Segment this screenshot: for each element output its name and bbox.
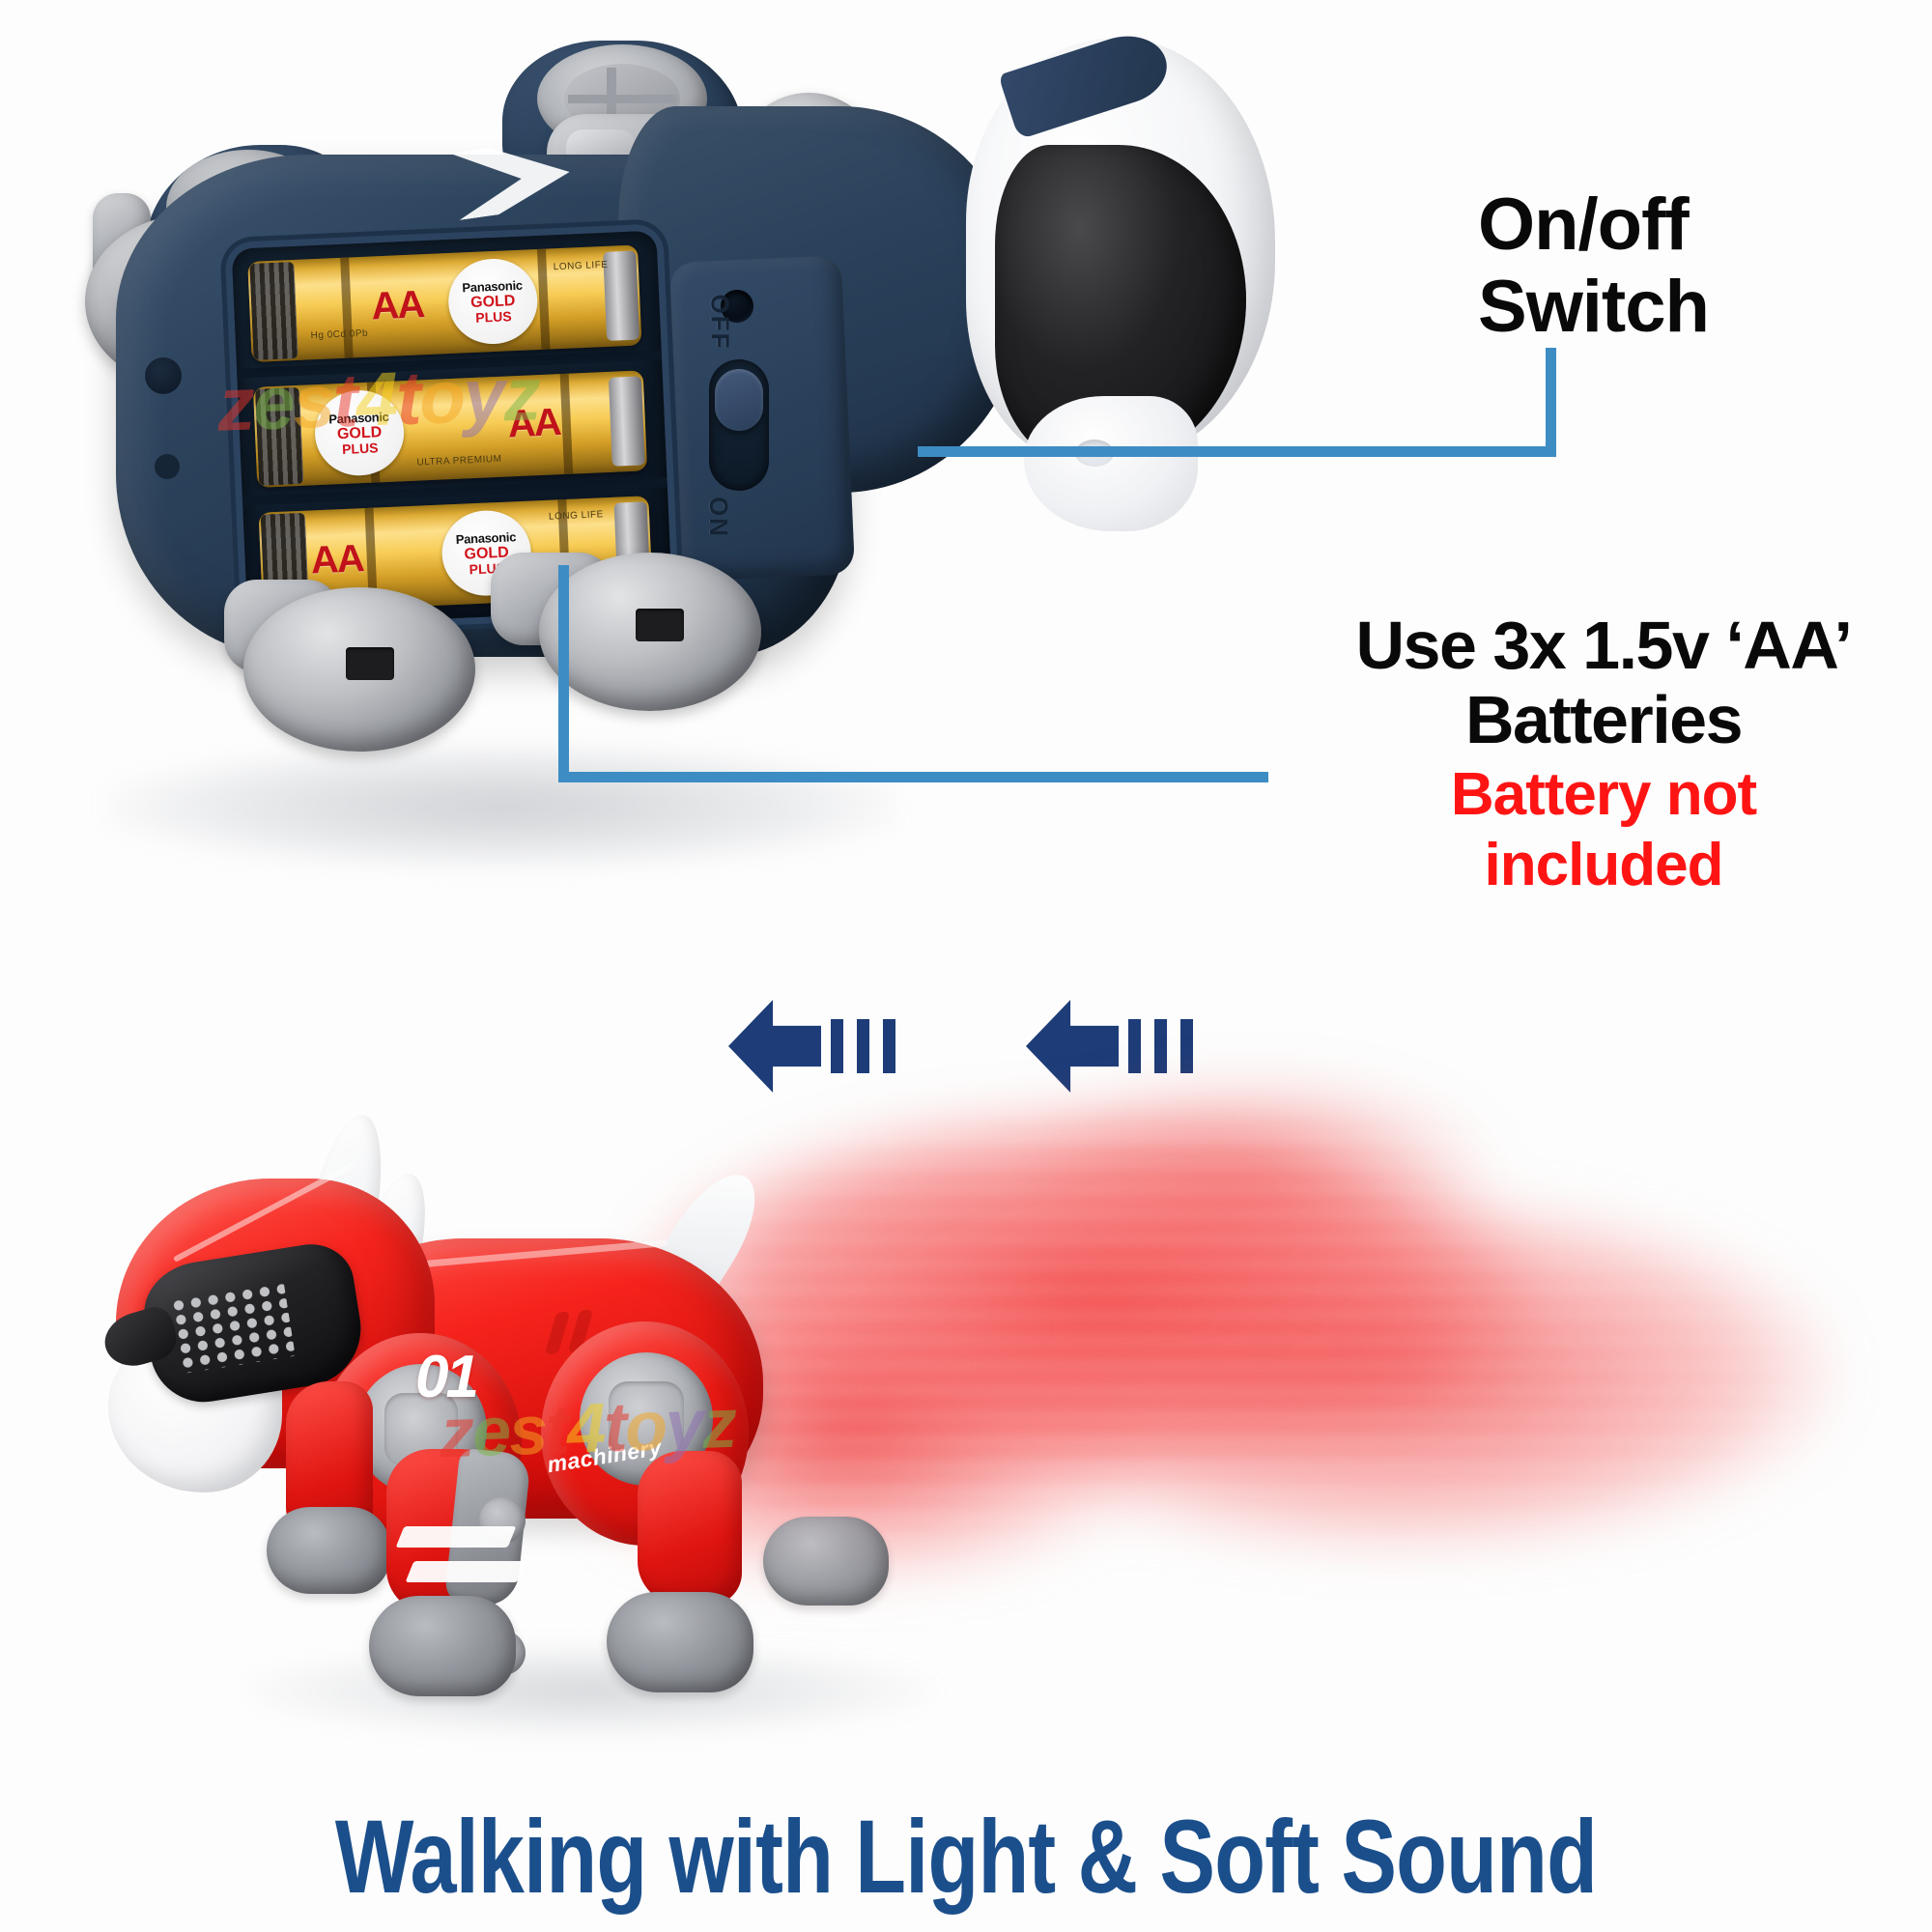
battery-warning-line-2: included: [1285, 834, 1922, 898]
battery-warning-line-1: Battery not: [1285, 763, 1922, 828]
red-dog-paw-front-near: [369, 1596, 516, 1696]
red-dog-paw-rear-far: [763, 1517, 889, 1605]
battery-leader-line-horizontal: [558, 772, 1268, 782]
infographic-canvas: AA Hg 0Cd 0Pb Panasonic GOLD PLUS LONG L…: [0, 0, 1932, 1932]
battery-brand: Panasonic: [328, 410, 389, 425]
battery-brand: Panasonic: [456, 530, 517, 546]
switch-on-label: ON: [703, 497, 733, 538]
battery-cell: Panasonic GOLD PLUS AA ULTRA PREMIUM: [253, 370, 647, 488]
blue-dog-lower-wheel-a: [243, 587, 475, 752]
switch-leader-line-vertical: [1546, 348, 1556, 457]
battery-label: Panasonic GOLD PLUS: [313, 388, 406, 477]
switch-off-label: OFF: [705, 295, 735, 351]
blue-dog-vent-hole-2: [155, 454, 180, 479]
blue-dog-lower-wheel-b: [539, 553, 761, 711]
top-floor-shadow: [106, 744, 898, 869]
top-product-photo: AA Hg 0Cd 0Pb Panasonic GOLD PLUS LONG L…: [0, 0, 1217, 985]
blue-dog-vent-hole: [145, 357, 182, 394]
on-off-switch-line-1: On/off: [1478, 184, 1903, 266]
on-off-switch-callout: On/off Switch: [1478, 184, 1903, 348]
battery-series-line2: PLUS: [475, 309, 512, 325]
battery-label: Panasonic GOLD PLUS: [446, 257, 539, 346]
battery-spec-line-2: Batteries: [1285, 683, 1922, 757]
battery-cell: AA Hg 0Cd 0Pb Panasonic GOLD PLUS LONG L…: [247, 244, 641, 362]
led-matrix-icon: [169, 1282, 296, 1375]
red-dog-paw-rear: [607, 1592, 753, 1692]
blue-dog-ear: [1024, 396, 1198, 531]
battery-spec-line-1: Use 3x 1.5v ‘AA’: [1285, 609, 1922, 683]
red-dog-paw-front-far: [267, 1507, 390, 1594]
bottom-product-photo: [0, 1063, 1932, 1797]
bottom-caption: Walking with Light & Soft Sound: [193, 1804, 1739, 1909]
bottom-floor-shadow: [241, 1642, 937, 1739]
red-dog-slash-decal-1: [396, 1526, 517, 1548]
battery-leader-line-vertical: [558, 565, 569, 782]
on-off-switch-line-2: Switch: [1478, 266, 1903, 348]
red-dog-number-decal: 01: [415, 1343, 476, 1411]
power-switch[interactable]: [715, 369, 763, 431]
switch-leader-line-horizontal: [918, 446, 1555, 457]
battery-brand: Panasonic: [462, 278, 523, 294]
red-dog-slash-decal-2: [406, 1561, 526, 1582]
battery-callout: Use 3x 1.5v ‘AA’ Batteries Battery not i…: [1285, 609, 1922, 898]
battery-series-line2: PLUS: [342, 440, 379, 456]
red-dog-leg-rear: [638, 1451, 742, 1605]
